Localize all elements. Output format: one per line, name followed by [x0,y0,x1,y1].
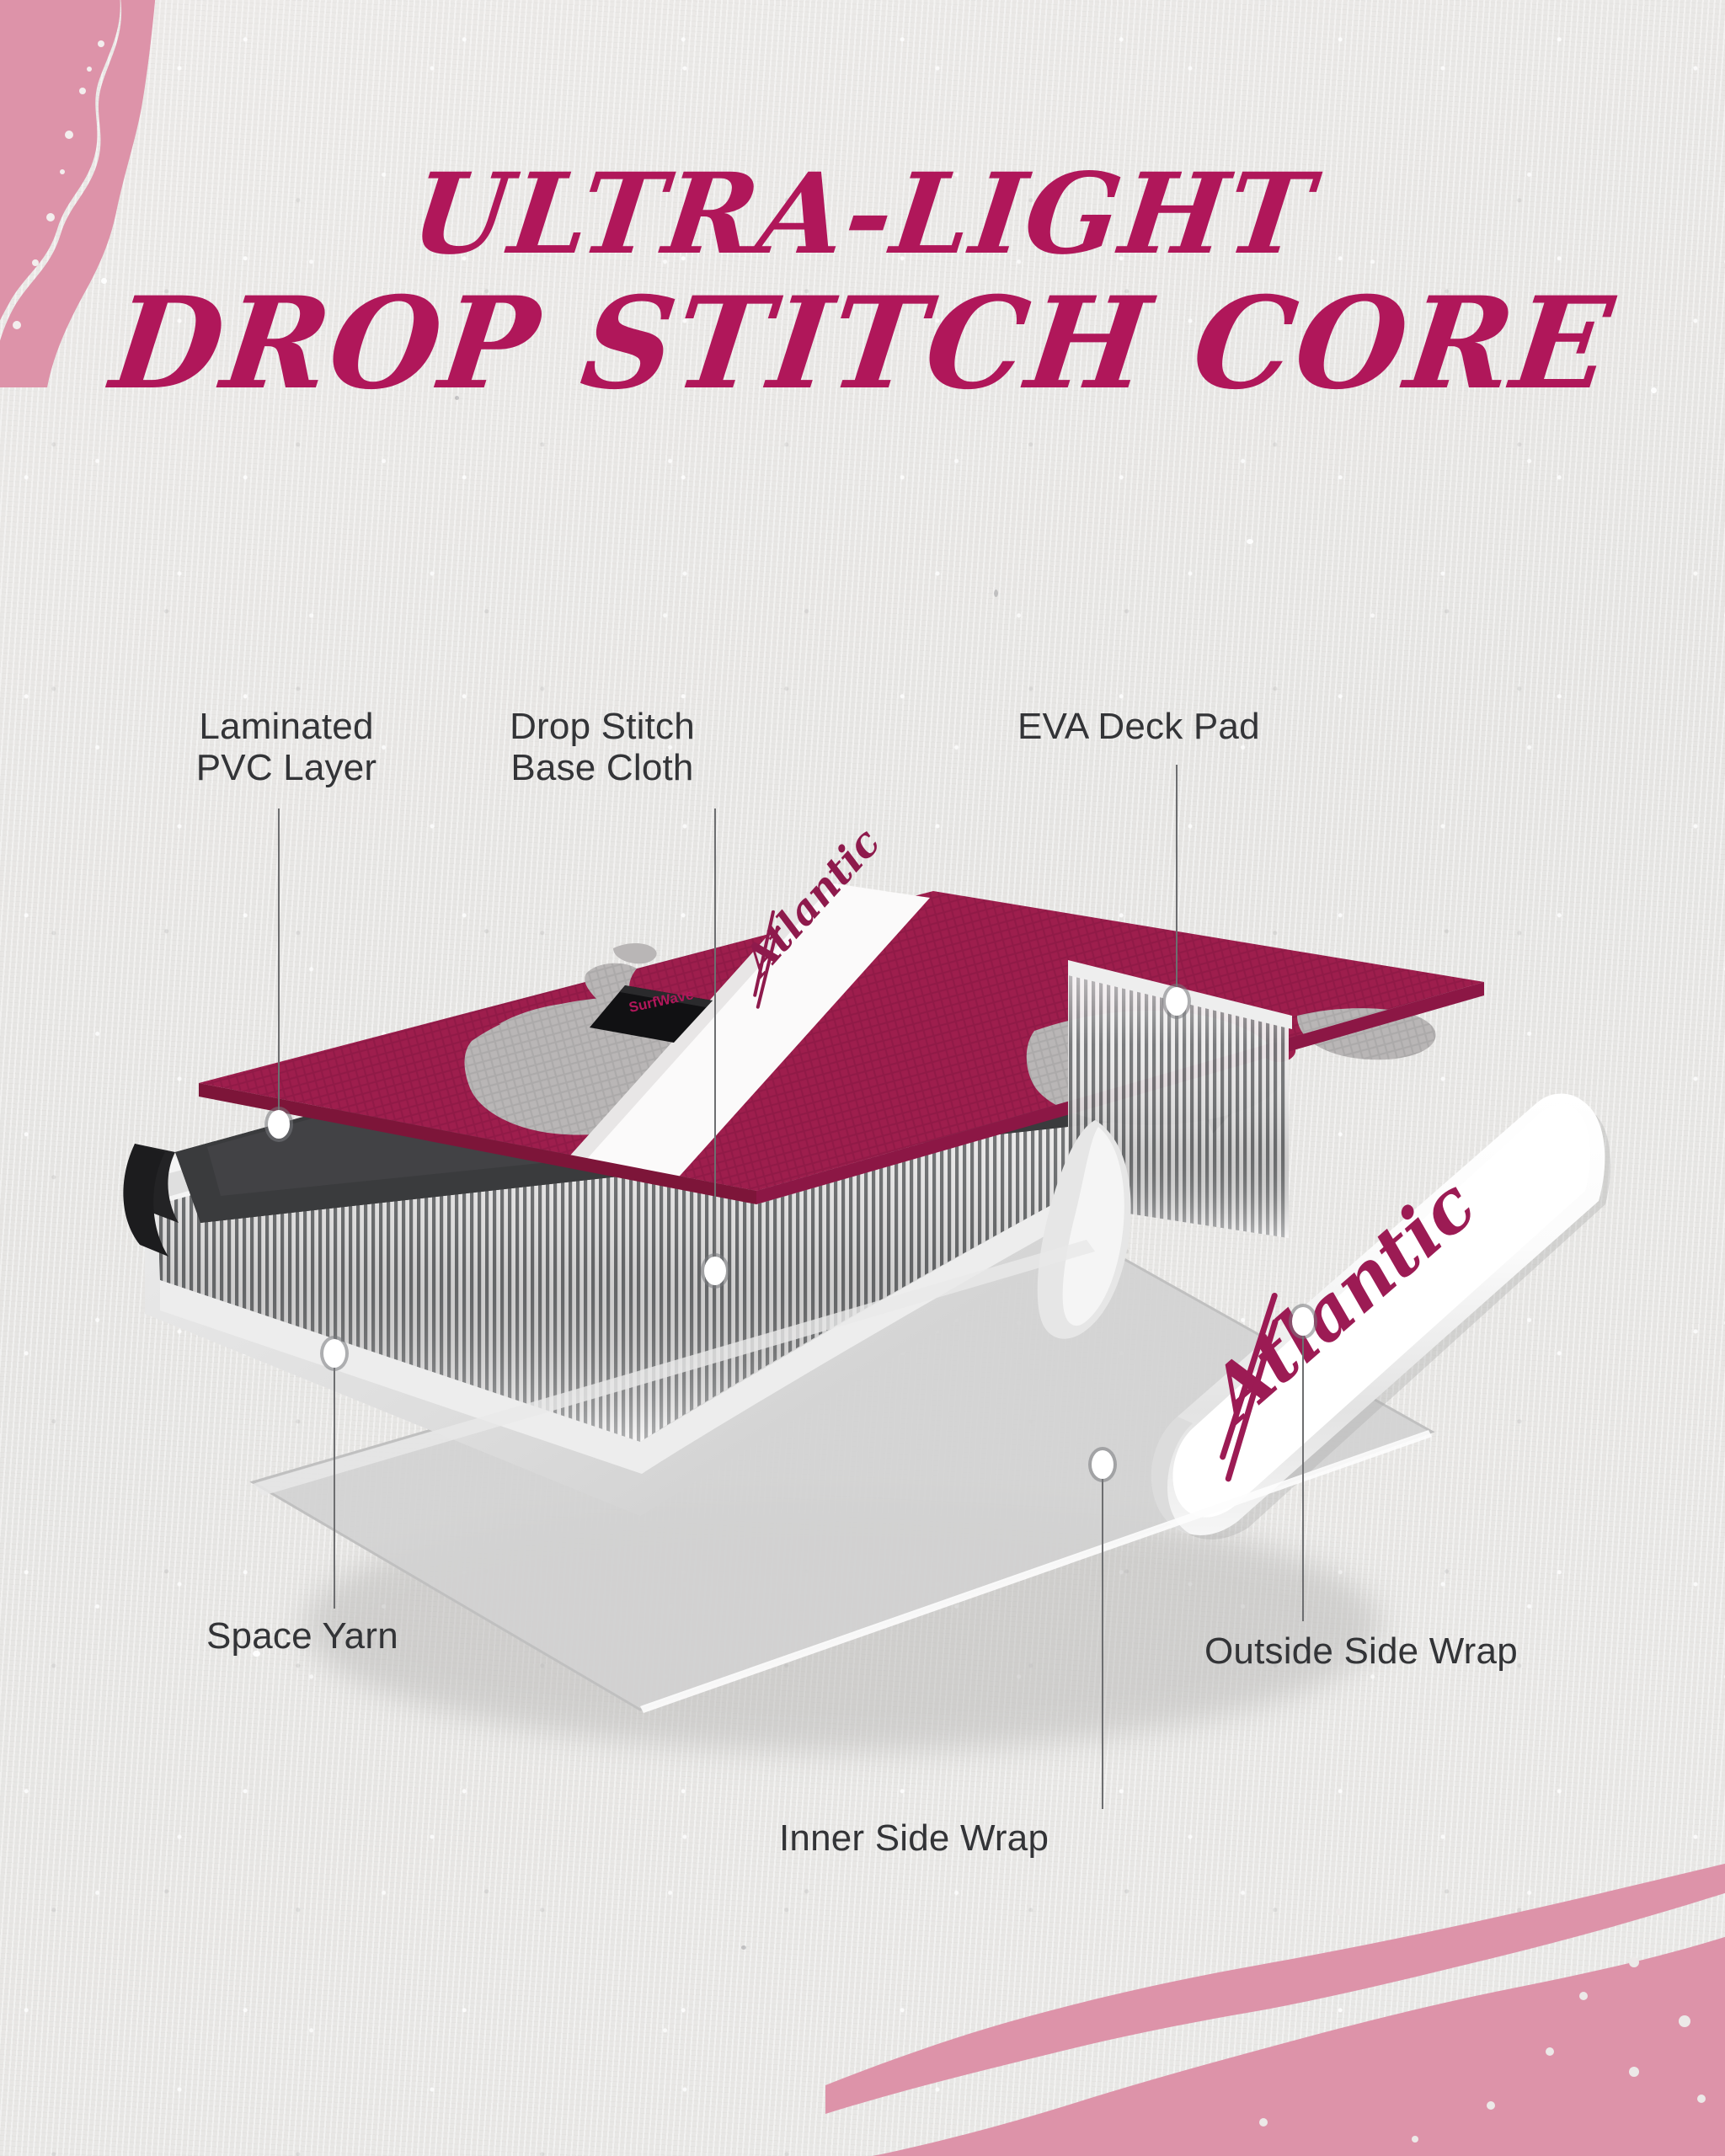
poster-canvas: ULTRA-LIGHT DROP STITCH CORE [0,0,1725,2156]
callout-label-drop-stitch-base-cloth: Drop Stitch Base Cloth [446,706,758,789]
callout-dot-inner-side-wrap[interactable] [1092,1450,1114,1479]
leader-line-drop-stitch-base-cloth [714,808,716,1263]
callout-dot-eva-deck-pad[interactable] [1166,987,1188,1016]
leader-line-inner-side-wrap [1102,1476,1103,1809]
leader-line-outside-side-wrap [1302,1331,1304,1621]
leader-line-laminated-pvc-layer [278,808,280,1116]
title-line-1: ULTRA-LIGHT [0,160,1725,269]
callout-dot-space-yarn[interactable] [323,1339,345,1368]
callout-label-outside-side-wrap: Outside Side Wrap [1204,1630,1651,1672]
leader-line-eva-deck-pad [1176,765,1178,994]
poster-title: ULTRA-LIGHT DROP STITCH CORE [0,160,1725,406]
title-line-2: DROP STITCH CORE [0,282,1725,406]
callout-label-space-yarn: Space Yarn [206,1615,526,1657]
callout-label-inner-side-wrap: Inner Side Wrap [779,1817,1175,1859]
callout-dot-outside-side-wrap[interactable] [1292,1307,1314,1336]
callout-dot-laminated-pvc-layer[interactable] [268,1110,290,1139]
leader-line-space-yarn [334,1364,335,1609]
callout-label-laminated-pvc-layer: Laminated PVC Layer [147,706,425,789]
callout-dot-drop-stitch-base-cloth[interactable] [704,1257,726,1285]
callout-label-eva-deck-pad: EVA Deck Pad [1017,706,1371,747]
